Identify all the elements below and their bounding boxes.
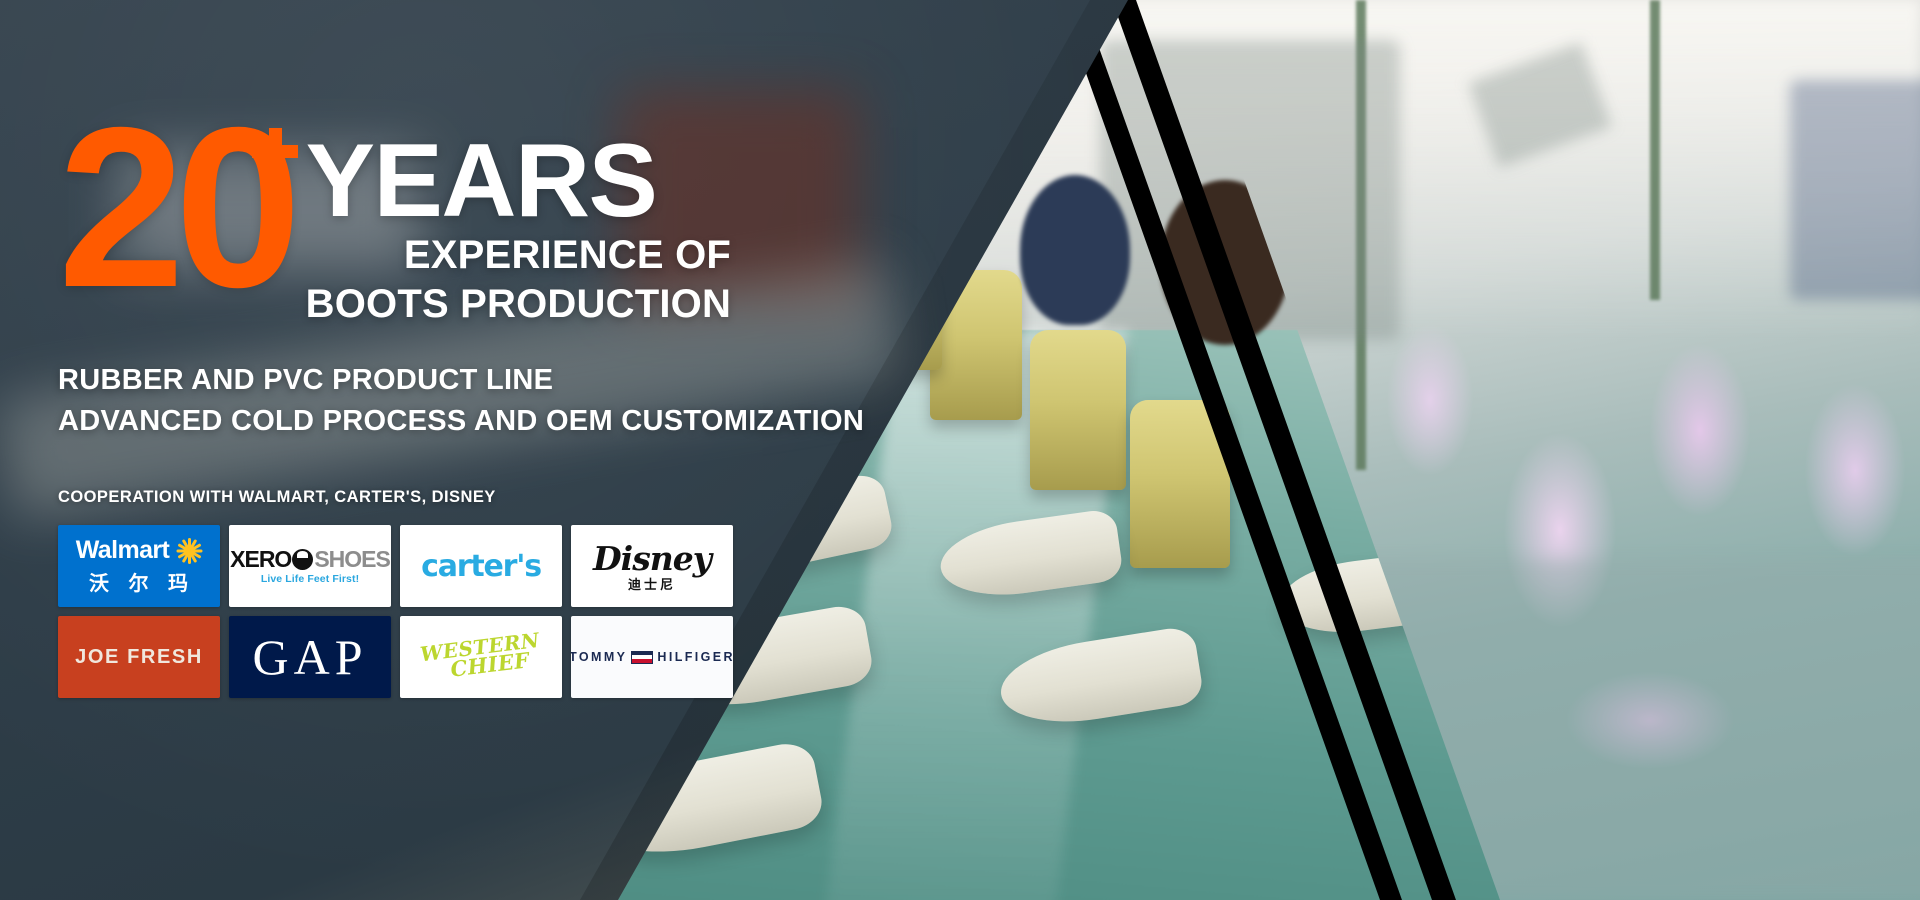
carters-wordmark: carter's (421, 549, 541, 584)
logo-western-chief[interactable]: WESTERN CHIEF (400, 616, 562, 698)
logo-tommy-hilfiger[interactable]: TOMMY HILFIGER (571, 616, 733, 698)
pole-icon (1650, 0, 1660, 300)
worker-blur (1790, 80, 1920, 300)
xero-wordmark: XERO (230, 548, 291, 571)
years-number: 20 (58, 120, 292, 298)
tommy-wordmark: TOMMY (571, 650, 627, 664)
logo-carters[interactable]: carter's (400, 525, 562, 607)
walmart-chinese-name: 沃 尔 玛 (83, 567, 195, 596)
logo-xero-shoes[interactable]: XERO SHOES Live Life Feet First! (229, 525, 391, 607)
logo-disney[interactable]: Disney 迪士尼 (571, 525, 733, 607)
disney-lockup: Disney 迪士尼 (593, 542, 711, 591)
walmart-wordmark: Walmart (76, 536, 170, 565)
western-chief-lockup: WESTERN CHIEF (419, 631, 543, 683)
flag-icon (631, 651, 653, 664)
headline: 20 YEARS EXPERIENCE OF BOOTS PRODUCTION (58, 120, 878, 326)
gap-wordmark: GAP (252, 632, 367, 682)
headline-right: YEARS EXPERIENCE OF BOOTS PRODUCTION (306, 120, 731, 326)
logo-joe-fresh[interactable]: JOE FRESH (58, 616, 220, 698)
xero-wordmark-row: XERO SHOES (230, 548, 390, 571)
experience-line-2: BOOTS PRODUCTION (306, 283, 731, 326)
disney-chinese-name: 迪士尼 (628, 578, 676, 591)
subheading-1: RUBBER AND PVC PRODUCT LINE (58, 360, 878, 401)
disney-wordmark: Disney (593, 542, 711, 575)
promo-banner: 20 YEARS EXPERIENCE OF BOOTS PRODUCTION … (0, 0, 1920, 900)
experience-line-1: EXPERIENCE OF (306, 234, 731, 277)
logo-gap[interactable]: GAP (229, 616, 391, 698)
years-number-text: 20 (58, 81, 292, 335)
western-chief-wordmark-2: CHIEF (450, 651, 531, 680)
tommy-lockup: TOMMY HILFIGER (571, 650, 733, 664)
joe-fresh-wordmark: JOE FRESH (75, 646, 203, 669)
xero-tagline: Live Life Feet First! (261, 574, 359, 585)
banner-content: 20 YEARS EXPERIENCE OF BOOTS PRODUCTION … (58, 120, 878, 698)
subheading-2: ADVANCED COLD PROCESS AND OEM CUSTOMIZAT… (58, 401, 878, 442)
xero-lockup: XERO SHOES Live Life Feet First! (230, 548, 390, 585)
logo-walmart[interactable]: Walmart 沃 尔 玛 (58, 525, 220, 607)
walmart-spark-icon (176, 538, 202, 564)
walmart-wordmark-row: Walmart (76, 536, 203, 565)
years-word: YEARS (306, 136, 731, 228)
cooperation-label: COOPERATION WITH WALMART, CARTER'S, DISN… (58, 488, 878, 507)
plus-icon (252, 128, 298, 174)
hilfiger-wordmark: HILFIGER (657, 650, 733, 664)
partner-logo-grid: Walmart 沃 尔 玛 XERO SHOES Live (58, 525, 748, 698)
xero-wordmark-2: SHOES (314, 548, 390, 571)
subheading-list: RUBBER AND PVC PRODUCT LINE ADVANCED COL… (58, 360, 878, 442)
footprint-icon (292, 549, 313, 570)
worker-figure (1020, 175, 1130, 325)
sewing-machine (1030, 330, 1126, 490)
